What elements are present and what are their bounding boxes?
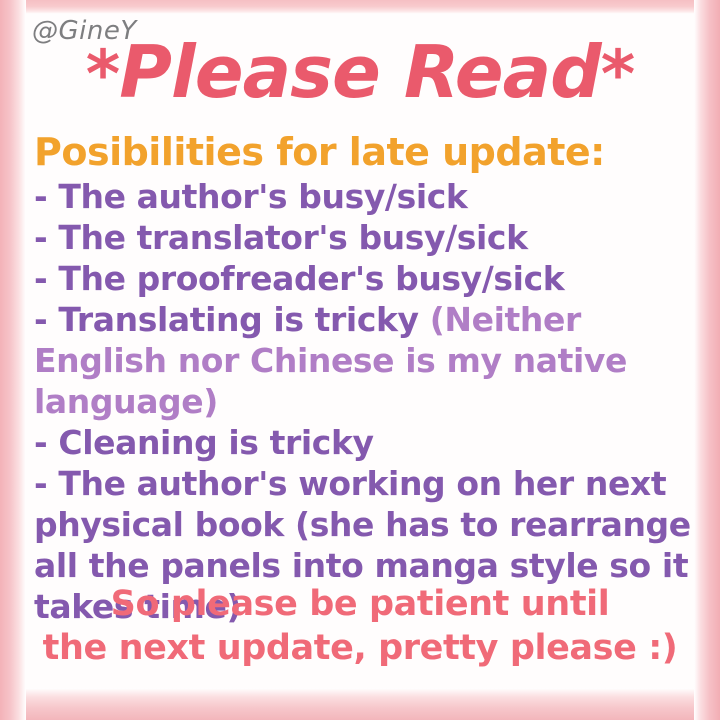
list-item: - The author's busy/sick	[34, 176, 694, 217]
frame-right-border	[694, 0, 720, 720]
footer-message: So please be patient until the next upda…	[26, 582, 694, 670]
page-title-text: Please Read	[119, 30, 600, 114]
asterisk-left-icon: *	[86, 36, 120, 113]
reasons-list: - The author's busy/sick - The translato…	[34, 176, 694, 627]
list-item: - The proofreader's busy/sick	[34, 258, 694, 299]
footer-line-1: So please be patient until	[26, 582, 694, 626]
frame-top-border	[0, 0, 720, 14]
list-item: - Translating is tricky (Neither English…	[34, 299, 694, 422]
asterisk-right-icon: *	[601, 36, 635, 113]
frame-bottom-border	[0, 688, 720, 720]
frame-left-border	[0, 0, 26, 720]
list-item: - The translator's busy/sick	[34, 217, 694, 258]
page-title: *Please Read*	[26, 36, 694, 108]
section-heading: Posibilities for late update:	[34, 130, 605, 174]
poster-image: @GineY *Please Read* Posibilities for la…	[0, 0, 720, 720]
list-item-main: - Translating is tricky	[34, 300, 430, 339]
content-canvas: @GineY *Please Read* Posibilities for la…	[26, 14, 694, 688]
list-item: - Cleaning is tricky	[34, 422, 694, 463]
footer-line-2: the next update, pretty please :)	[26, 626, 694, 670]
